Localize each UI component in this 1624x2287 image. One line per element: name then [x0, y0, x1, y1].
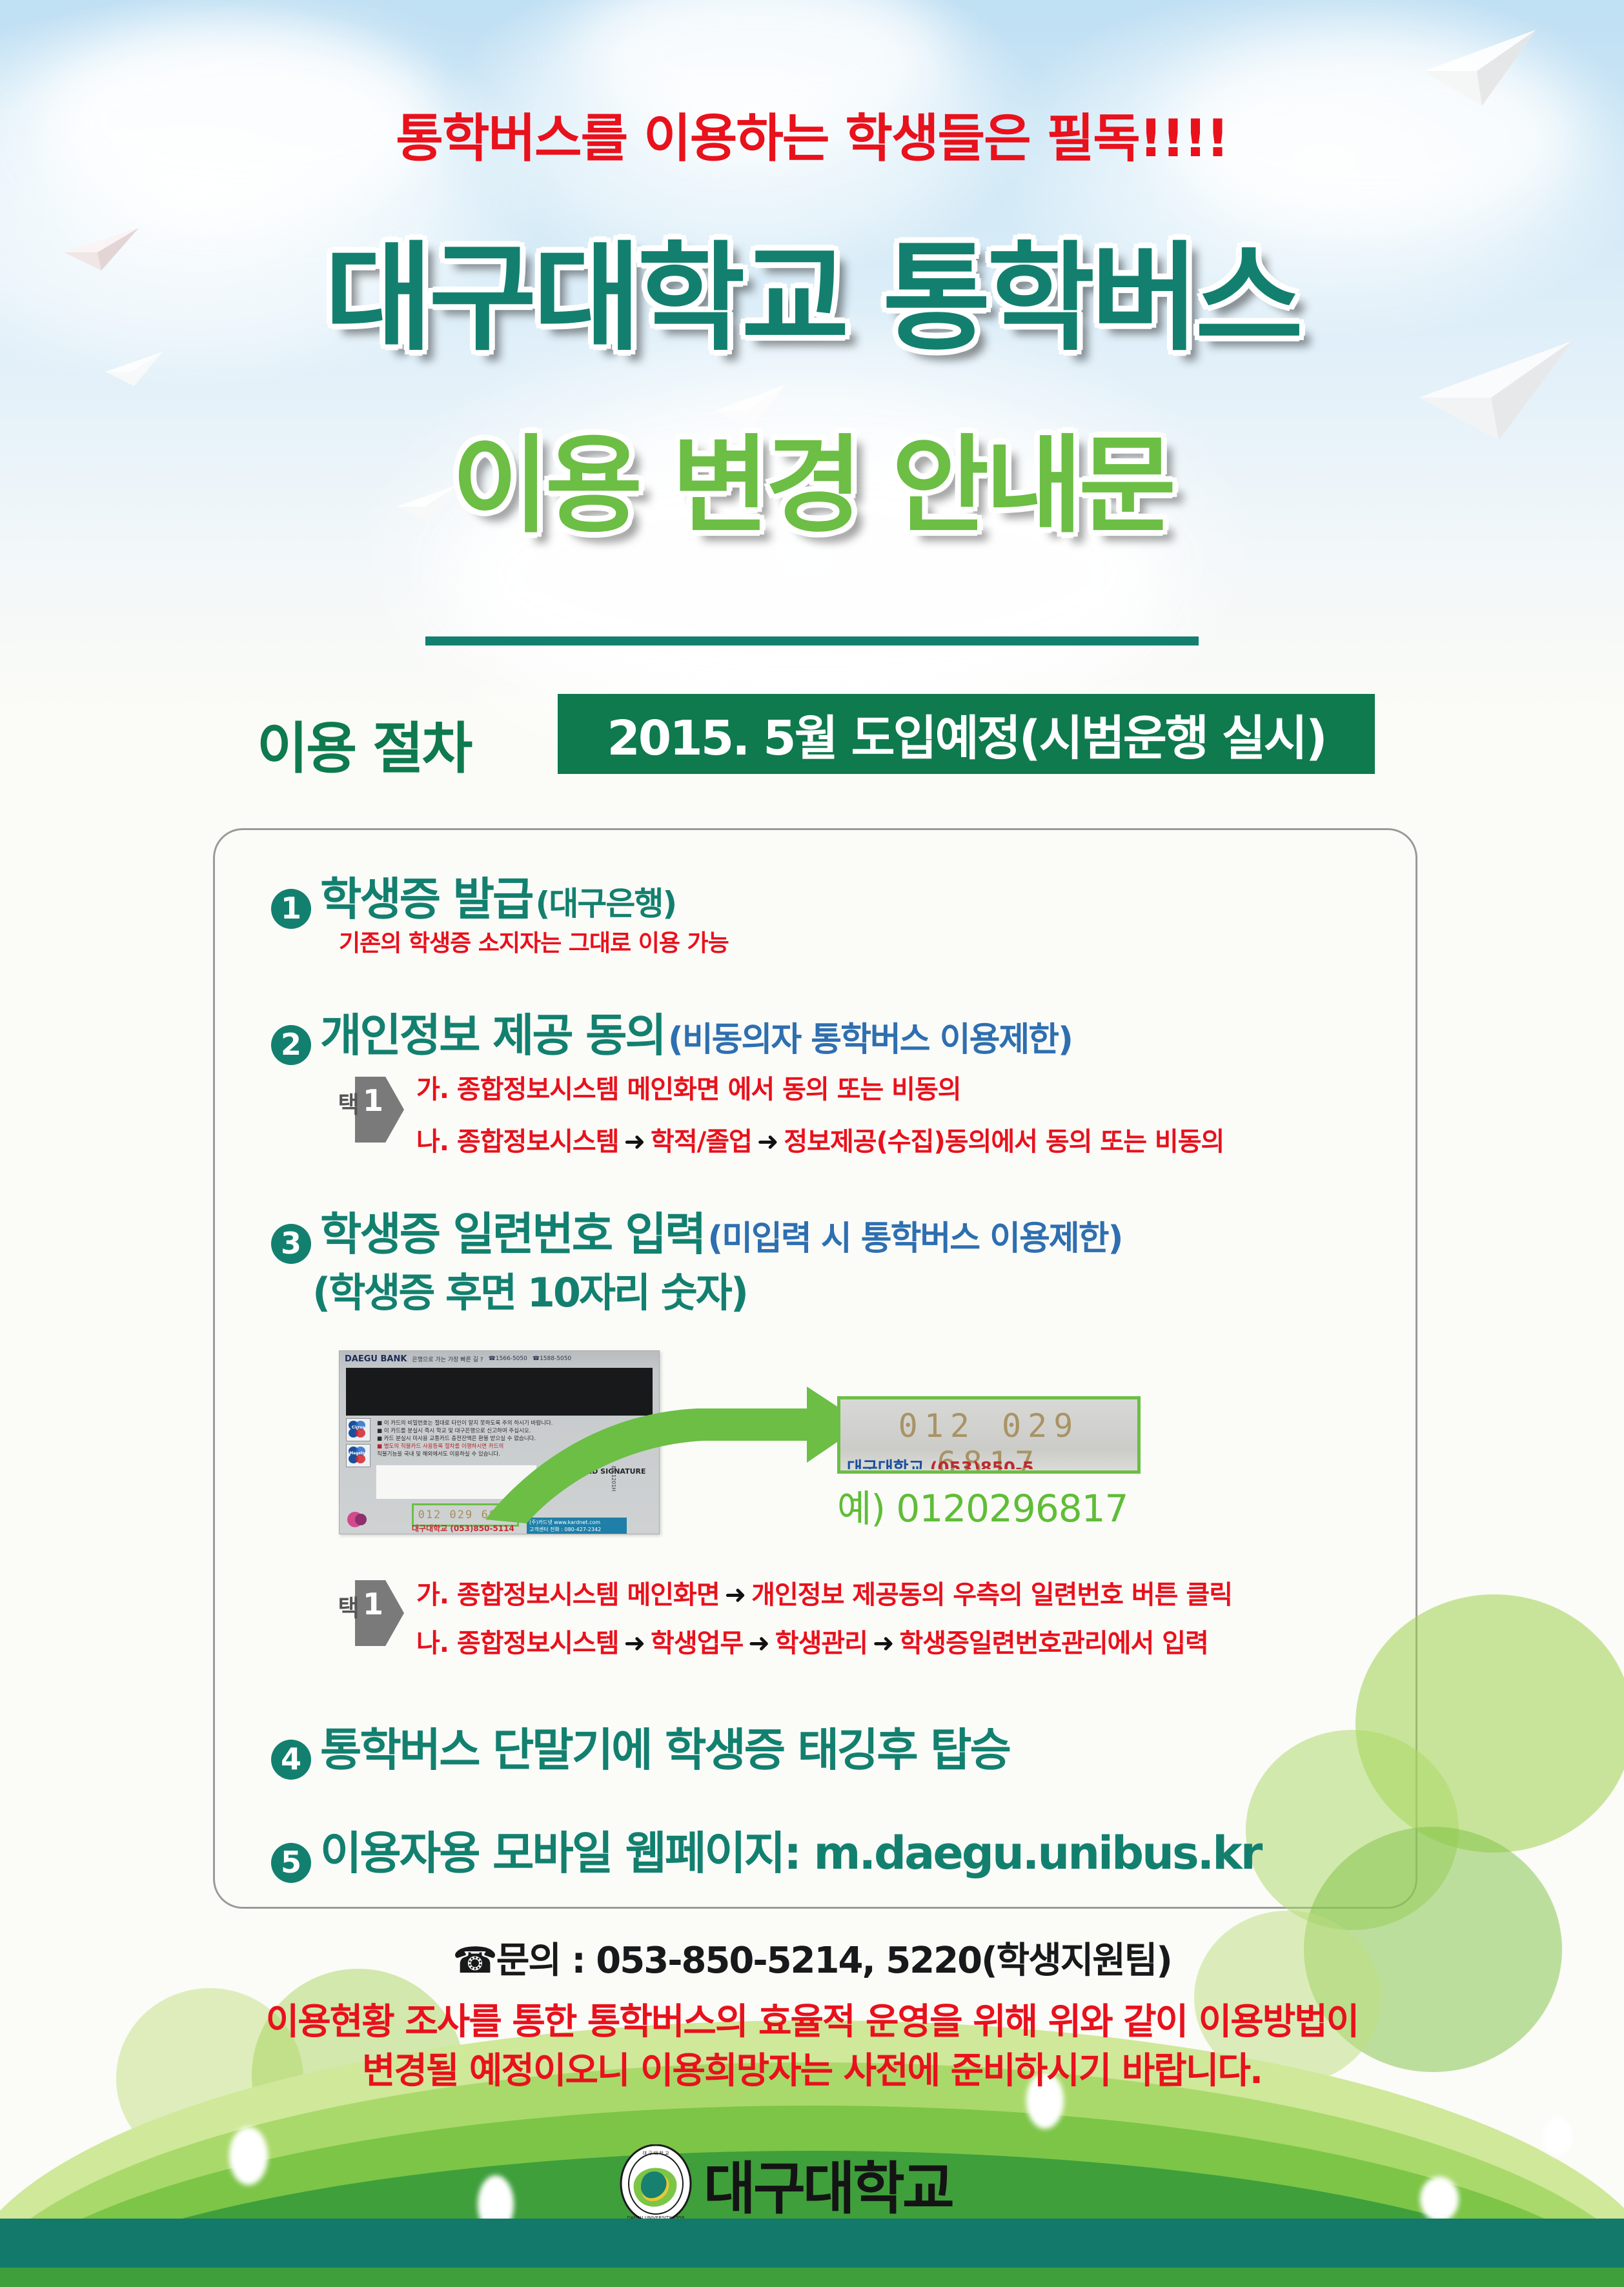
card-bank-tagline: 은행으로 가는 가장 빠른 길 ?: [412, 1355, 483, 1363]
zoomed-serial-blur-line: 대구대학교 (053)850-5...: [847, 1455, 1132, 1469]
step-2-option-a: 가. 종합정보시스템 메인화면 에서 동의 또는 비동의: [416, 1068, 961, 1106]
cirrus-icon: Cirrus: [346, 1418, 370, 1441]
step-number-badge: 2: [271, 1025, 311, 1065]
step-3-option-b-part4: 학생증일련번호관리에서 입력: [899, 1629, 1208, 1658]
step-2-option-a-text: 종합정보시스템 메인화면 에서 동의 또는 비동의: [457, 1075, 961, 1104]
pick-number: 1: [363, 1587, 383, 1621]
step-3-option-a-part2: 개인정보 제공동의 우측의 일련번호 버튼 클릭: [751, 1580, 1232, 1610]
arrow-right-icon: ➜: [868, 1629, 900, 1658]
light-bubble: [1543, 2117, 1572, 2156]
step-2-paren: (비동의자 통학버스 이용제한): [668, 1021, 1072, 1059]
card-bank-row: DAEGU BANK 은행으로 가는 가장 빠른 길 ? ☎1566-5050 …: [340, 1351, 660, 1367]
step-3-paren: (미입력 시 통학버스 이용제한): [707, 1219, 1122, 1258]
step-3-option-b-prefix: 나.: [416, 1629, 457, 1658]
step-3-option-b-part3: 학생관리: [775, 1629, 868, 1658]
light-bubble: [1420, 2177, 1459, 2222]
poster-title-line2: 이용 변경 안내문: [0, 400, 1624, 553]
step-number-badge: 1: [271, 889, 311, 929]
step-number-badge: 3: [271, 1224, 311, 1264]
maestro-label: Maestro: [347, 1451, 370, 1456]
kicker-headline: 통학버스를 이용하는 학생들은 필독!!!!: [0, 97, 1624, 172]
step-3-heading: 학생증 일련번호 입력: [320, 1208, 704, 1261]
light-bubble: [229, 2127, 268, 2185]
poster-root: 통학버스를 이용하는 학생들은 필독!!!! 대구대학교 통학버스 이용 변경 …: [0, 0, 1624, 2287]
step-1-paren: (대구은행): [535, 885, 676, 922]
section-header: 이용 절차 2015. 5월 도입예정(시범운행 실시): [0, 694, 1624, 778]
cirrus-label: Cirrus: [347, 1425, 370, 1430]
card-bank-contact: 대구대학교 (053)850-5114: [412, 1523, 514, 1534]
serial-example-text: 예) 0120296817: [837, 1478, 1128, 1532]
step-1-sub-red: 기존의 학생증 소지자는 그대로 이용 가능: [339, 930, 729, 957]
zoom-arrow-icon: [445, 1375, 897, 1523]
pick-one-marker: 택 1: [329, 1072, 407, 1148]
university-logo: 대 구 대 학 교 DAEGU UNIVERSITY 1956 대구대학교: [620, 2144, 1033, 2223]
step-4-heading: 통학버스 단말기에 학생증 태깅후 탑승: [320, 1723, 1010, 1776]
bottom-notice-line1: 이용현황 조사를 통한 통학버스의 효율적 운영을 위해 위와 같이 이용방법이: [0, 1998, 1624, 2047]
card-phone-2: ☎1588-5050: [533, 1356, 571, 1362]
step-2: 2개인정보 제공 동의 (비동의자 통학버스 이용제한): [271, 999, 1072, 1065]
debit-card-icon: [346, 1509, 369, 1530]
maestro-icon: Maestro: [346, 1444, 370, 1467]
step-2-option-b: 나. 종합정보시스템➜학적/졸업➜정보제공(수집)동의에서 동의 또는 비동의: [416, 1121, 1224, 1158]
step-3-subline: (학생증 후면 10자리 숫자): [312, 1260, 747, 1318]
arrow-right-icon: ➜: [752, 1127, 784, 1157]
bottom-teal-strip: [0, 2219, 1624, 2268]
step-2-option-b-part3: 정보제공(수집)동의에서 동의 또는 비동의: [784, 1127, 1224, 1157]
section-banner: 2015. 5월 도입예정(시범운행 실시): [558, 694, 1375, 774]
card-bank-name: DAEGU BANK: [345, 1354, 407, 1364]
step-2-option-a-prefix: 가.: [416, 1075, 457, 1104]
pick-number: 1: [363, 1083, 383, 1118]
arrow-right-icon: ➜: [619, 1127, 651, 1157]
step-2-option-b-prefix: 나.: [416, 1127, 457, 1157]
step-3-option-a-part1: 종합정보시스템 메인화면: [457, 1580, 720, 1610]
step-3: 3학생증 일련번호 입력 (미입력 시 통학버스 이용제한): [271, 1198, 1122, 1264]
card-phone-1: ☎1566-5050: [489, 1356, 527, 1362]
card-kardnet-2: 고객센터 전화 : 080-427-2342: [529, 1526, 624, 1533]
step-1: 1학생증 발급 (대구은행): [271, 863, 676, 929]
pick-label: 택: [329, 1092, 363, 1115]
svg-text:대 구 대 학 교: 대 구 대 학 교: [642, 2150, 669, 2156]
pick-one-marker: 택 1: [329, 1575, 407, 1651]
step-1-heading: 학생증 발급: [320, 873, 532, 926]
step-2-option-b-part1: 종합정보시스템: [457, 1127, 619, 1157]
step-5: 5이용자용 모바일 웹페이지: m.daegu.unibus.kr: [271, 1817, 1261, 1883]
arrow-right-icon: ➜: [743, 1629, 775, 1658]
step-3-subline-text: (학생증 후면 10자리 숫자): [312, 1269, 747, 1316]
title-divider: [425, 636, 1199, 645]
university-seal-icon: 대 구 대 학 교 DAEGU UNIVERSITY 1956: [620, 2144, 692, 2223]
section-label: 이용 절차: [257, 703, 471, 784]
step-3-option-b-part2: 학생업무: [651, 1629, 743, 1658]
poster-title-line1: 대구대학교 통학버스: [0, 203, 1624, 373]
step-5-heading: 이용자용 모바일 웹페이지: m.daegu.unibus.kr: [320, 1827, 1261, 1880]
card-network-logos: Cirrus Maestro: [346, 1418, 373, 1470]
step-3-option-b-part1: 종합정보시스템: [457, 1629, 619, 1658]
university-name: 대구대학교: [704, 2143, 952, 2225]
arrow-right-icon: ➜: [619, 1629, 651, 1658]
bottom-notice-line2: 변경될 예정이오니 이용희망자는 사전에 준비하시기 바랍니다.: [0, 2047, 1624, 2096]
bottom-green-strip: [0, 2268, 1624, 2287]
contact-line: ☎문의 : 053-850-5214, 5220(학생지원팀): [0, 1931, 1624, 1984]
step-2-heading: 개인정보 제공 동의: [320, 1009, 665, 1062]
step-2-option-b-part2: 학적/졸업: [651, 1127, 752, 1157]
step-number-badge: 5: [271, 1843, 311, 1883]
step-1-subtext: 기존의 학생증 소지자는 그대로 이용 가능: [339, 924, 729, 958]
step-number-badge: 4: [271, 1740, 311, 1780]
zoomed-serial-callout: 012 029 6817 대구대학교 (053)850-5...: [837, 1396, 1141, 1474]
step-4: 4통학버스 단말기에 학생증 태깅후 탑승: [271, 1714, 1010, 1780]
step-3-option-b: 나. 종합정보시스템➜학생업무➜학생관리➜학생증일련번호관리에서 입력: [416, 1622, 1208, 1660]
step-3-option-a-prefix: 가.: [416, 1580, 457, 1610]
arrow-right-icon: ➜: [720, 1580, 752, 1610]
pick-label: 택: [329, 1596, 363, 1619]
bottom-notice: 이용현황 조사를 통한 통학버스의 효율적 운영을 위해 위와 같이 이용방법이…: [0, 1998, 1624, 2096]
section-banner-text: 2015. 5월 도입예정(시범운행 실시): [607, 700, 1325, 769]
step-3-option-a: 가. 종합정보시스템 메인화면➜개인정보 제공동의 우측의 일련번호 버튼 클릭: [416, 1574, 1232, 1611]
